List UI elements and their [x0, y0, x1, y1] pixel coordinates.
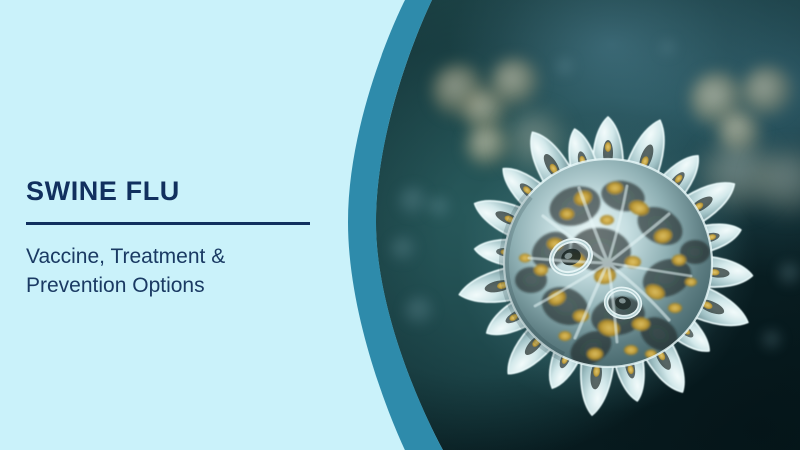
page-title: SWINE FLU — [26, 176, 326, 206]
headline-block: SWINE FLU Vaccine, Treatment & Preventio… — [26, 176, 326, 300]
subtitle-line-2: Prevention Options — [26, 274, 205, 297]
title-divider — [26, 222, 310, 225]
subtitle-line-1: Vaccine, Treatment & — [26, 245, 225, 268]
swine-flu-banner: SWINE FLU Vaccine, Treatment & Preventio… — [0, 0, 800, 450]
page-subtitle: Vaccine, Treatment & Prevention Options — [26, 242, 326, 300]
